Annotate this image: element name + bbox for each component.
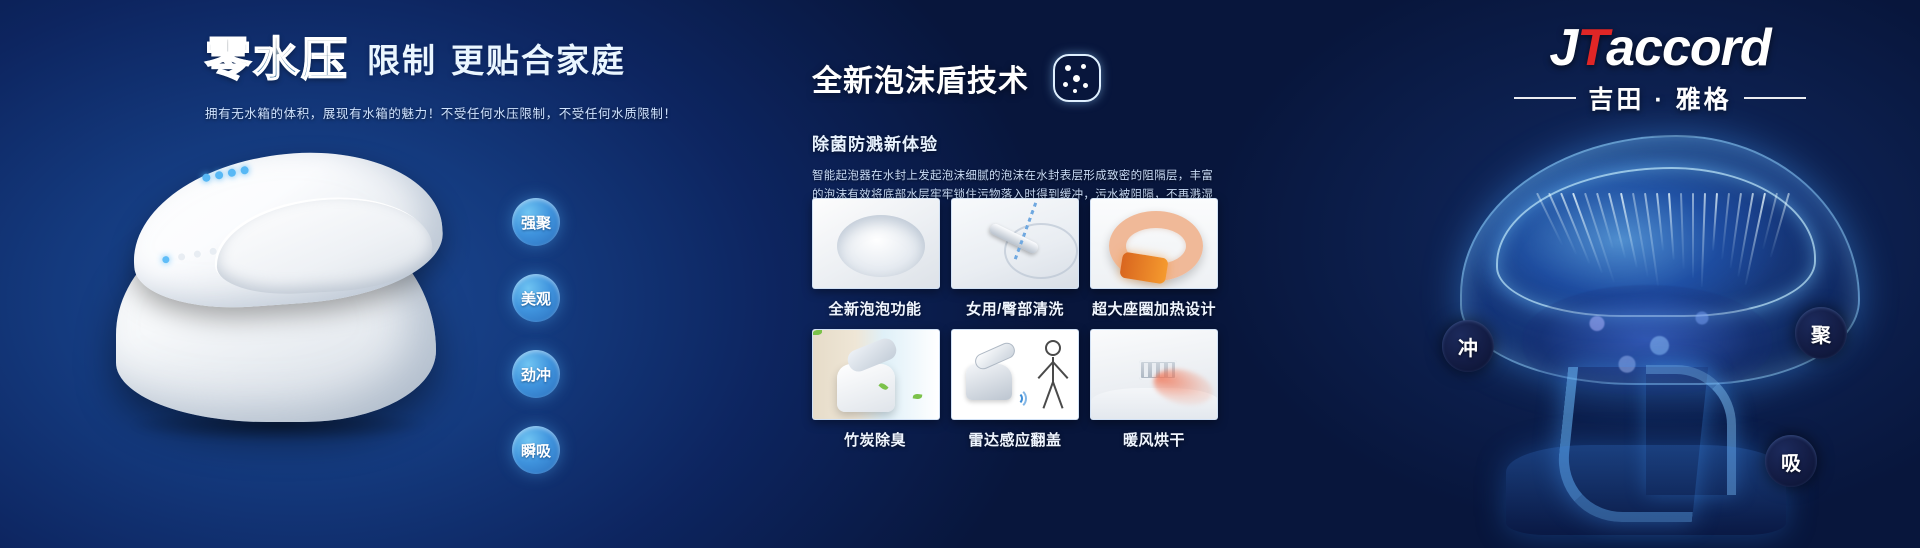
brand-wordmark-rest: accord (1606, 19, 1771, 77)
foam-tech-title: 全新泡沫盾技术 (812, 56, 1029, 100)
foam-bubble-shield-icon (1051, 52, 1103, 104)
feature-card-warm-dry-label: 暖风烘干 (1090, 429, 1218, 450)
feature-pill-4[interactable]: 瞬吸 (512, 426, 560, 474)
brand-wordmark: JTaccord (1495, 22, 1825, 74)
brand-rule-right (1744, 97, 1806, 99)
headline-keyword: 零水压 (205, 36, 353, 82)
xray-badge-gather[interactable]: 聚 (1795, 307, 1847, 359)
foam-tech-header: 全新泡沫盾技术 (812, 52, 1372, 104)
xray-toilet-flow-diagram: 冲 聚 吸 (1410, 115, 1910, 535)
brand-rule-left (1514, 97, 1576, 99)
brand-letter-t: T (1577, 19, 1606, 77)
feature-pill-2[interactable]: 美观 (512, 274, 560, 322)
feature-grid-row-1: 全新泡泡功能 女用/臀部清洗 超大座圈加热设计 (812, 198, 1352, 319)
feature-grid-row-2: 竹炭除臭 雷达感应翻盖 (812, 329, 1352, 450)
feature-pill-3[interactable]: 劲冲 (512, 350, 560, 398)
left-panel: 零水压 限制更贴合家庭 拥有无水箱的体积，展现有水箱的魅力！不受任何水压限制，不… (0, 0, 640, 548)
brand-chinese-name: 吉田 · 雅格 (1588, 80, 1731, 116)
feature-card-radar-lid[interactable]: 雷达感应翻盖 (951, 329, 1079, 450)
warm-air-dryer-thumbnail (1090, 329, 1218, 420)
promo-banner: 零水压 限制更贴合家庭 拥有无水箱的体积，展现有水箱的魅力！不受任何水压限制，不… (0, 0, 1920, 548)
headline-tail-part2: 更贴合家庭 (451, 42, 626, 79)
bamboo-charcoal-deodor-thumbnail (812, 329, 940, 420)
right-panel: JTaccord 吉田 · 雅格 冲 聚 吸 (1390, 0, 1920, 548)
xray-base (1506, 445, 1786, 535)
headline: 零水压 限制更贴合家庭 (205, 36, 626, 82)
xray-badge-flush[interactable]: 冲 (1442, 320, 1494, 372)
nozzle-wash-thumbnail (951, 198, 1079, 289)
feature-card-deodorize[interactable]: 竹炭除臭 (812, 329, 940, 450)
feature-card-heated-seat-label: 超大座圈加热设计 (1090, 298, 1218, 319)
feature-pill-list: 强聚 美观 劲冲 瞬吸 (512, 198, 560, 474)
heated-seat-ring-thumbnail (1090, 198, 1218, 289)
brand-chinese-row: 吉田 · 雅格 (1495, 80, 1825, 116)
feature-card-deodorize-label: 竹炭除臭 (812, 429, 940, 450)
brand-logo[interactable]: JTaccord 吉田 · 雅格 (1495, 22, 1825, 116)
middle-panel: 全新泡沫盾技术 除菌防溅新体验 智能起泡器在水封上发起泡沫细腻的泡沫在水封表层形… (812, 0, 1372, 548)
xray-badge-suction[interactable]: 吸 (1765, 435, 1817, 487)
foam-bowl-thumbnail (812, 198, 940, 289)
foam-tech-subtitle: 除菌防溅新体验 (812, 130, 1372, 155)
headline-subtitle: 拥有无水箱的体积，展现有水箱的魅力！不受任何水压限制，不受任何水质限制！ (205, 103, 677, 122)
feature-pill-1[interactable]: 强聚 (512, 198, 560, 246)
feature-card-foam-label: 全新泡泡功能 (812, 298, 940, 319)
feature-card-foam[interactable]: 全新泡泡功能 (812, 198, 940, 319)
headline-tail-part1: 限制 (367, 42, 437, 79)
feature-grid: 全新泡泡功能 女用/臀部清洗 超大座圈加热设计 (812, 198, 1352, 460)
headline-tail: 限制更贴合家庭 (367, 44, 626, 82)
feature-card-wash[interactable]: 女用/臀部清洗 (951, 198, 1079, 319)
feature-card-radar-lid-label: 雷达感应翻盖 (951, 429, 1079, 450)
feature-card-wash-label: 女用/臀部清洗 (951, 298, 1079, 319)
brand-letter-j: J (1549, 19, 1577, 77)
feature-card-warm-dry[interactable]: 暖风烘干 (1090, 329, 1218, 450)
radar-auto-lid-thumbnail (951, 329, 1079, 420)
smart-toilet-photo (98, 140, 468, 440)
feature-card-heated-seat[interactable]: 超大座圈加热设计 (1090, 198, 1218, 319)
